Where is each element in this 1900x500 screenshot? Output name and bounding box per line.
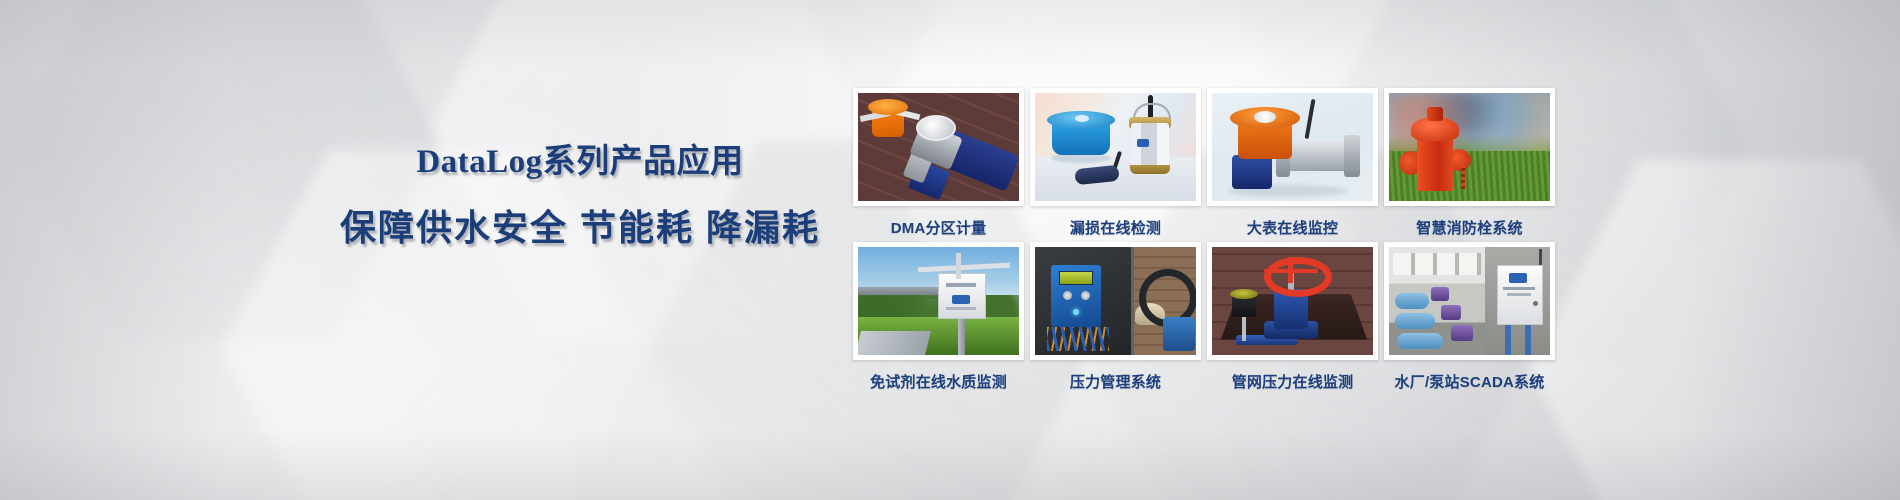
reagent-free-water-quality-photo [858,247,1019,355]
card-frame [853,242,1024,360]
card-caption: 免试剂在线水质监测 [853,371,1024,392]
product-card-waterworks-scada[interactable]: 水厂/泵站SCADA系统 [1384,242,1555,392]
card-caption: 漏损在线检测 [1030,217,1201,238]
card-caption: 智慧消防栓系统 [1384,217,1555,238]
card-frame [1030,88,1201,206]
card-caption: 水厂/泵站SCADA系统 [1384,371,1555,392]
leak-online-detection-photo [1035,93,1196,201]
product-card-large-meter-monitoring[interactable]: 大表在线监控 [1207,88,1378,238]
dma-district-metering-photo [858,93,1019,201]
smart-fire-hydrant-photo [1389,93,1550,201]
card-frame [1207,242,1378,360]
headline-secondary: 保障供水安全 节能耗 降漏耗 [270,204,890,252]
card-frame [1207,88,1378,206]
pressure-management-system-photo [1035,247,1196,355]
headline-primary: DataLog系列产品应用 [270,140,890,184]
card-frame [1384,242,1555,360]
waterworks-pump-scada-photo [1389,247,1550,355]
card-frame [1384,88,1555,206]
card-caption: 大表在线监控 [1207,217,1378,238]
headline-block: DataLog系列产品应用 保障供水安全 节能耗 降漏耗 [270,140,890,252]
product-application-banner: DataLog系列产品应用 保障供水安全 节能耗 降漏耗 DMA分区计量 [0,0,1900,500]
card-caption: 压力管理系统 [1030,371,1201,392]
card-caption: 管网压力在线监测 [1207,371,1378,392]
card-caption: DMA分区计量 [853,217,1024,238]
product-card-dma-district-metering[interactable]: DMA分区计量 [853,88,1024,238]
product-card-grid: DMA分区计量 漏损在线检测 [853,88,1557,392]
large-meter-online-monitoring-photo [1212,93,1373,201]
product-card-pipe-network-pressure[interactable]: 管网压力在线监测 [1207,242,1378,392]
product-card-water-quality-monitoring[interactable]: 免试剂在线水质监测 [853,242,1024,392]
card-frame [1030,242,1201,360]
product-card-leak-online-detection[interactable]: 漏损在线检测 [1030,88,1201,238]
card-frame [853,88,1024,206]
product-card-smart-fire-hydrant[interactable]: 智慧消防栓系统 [1384,88,1555,238]
product-card-pressure-management-system[interactable]: 压力管理系统 [1030,242,1201,392]
pipe-network-pressure-photo [1212,247,1373,355]
